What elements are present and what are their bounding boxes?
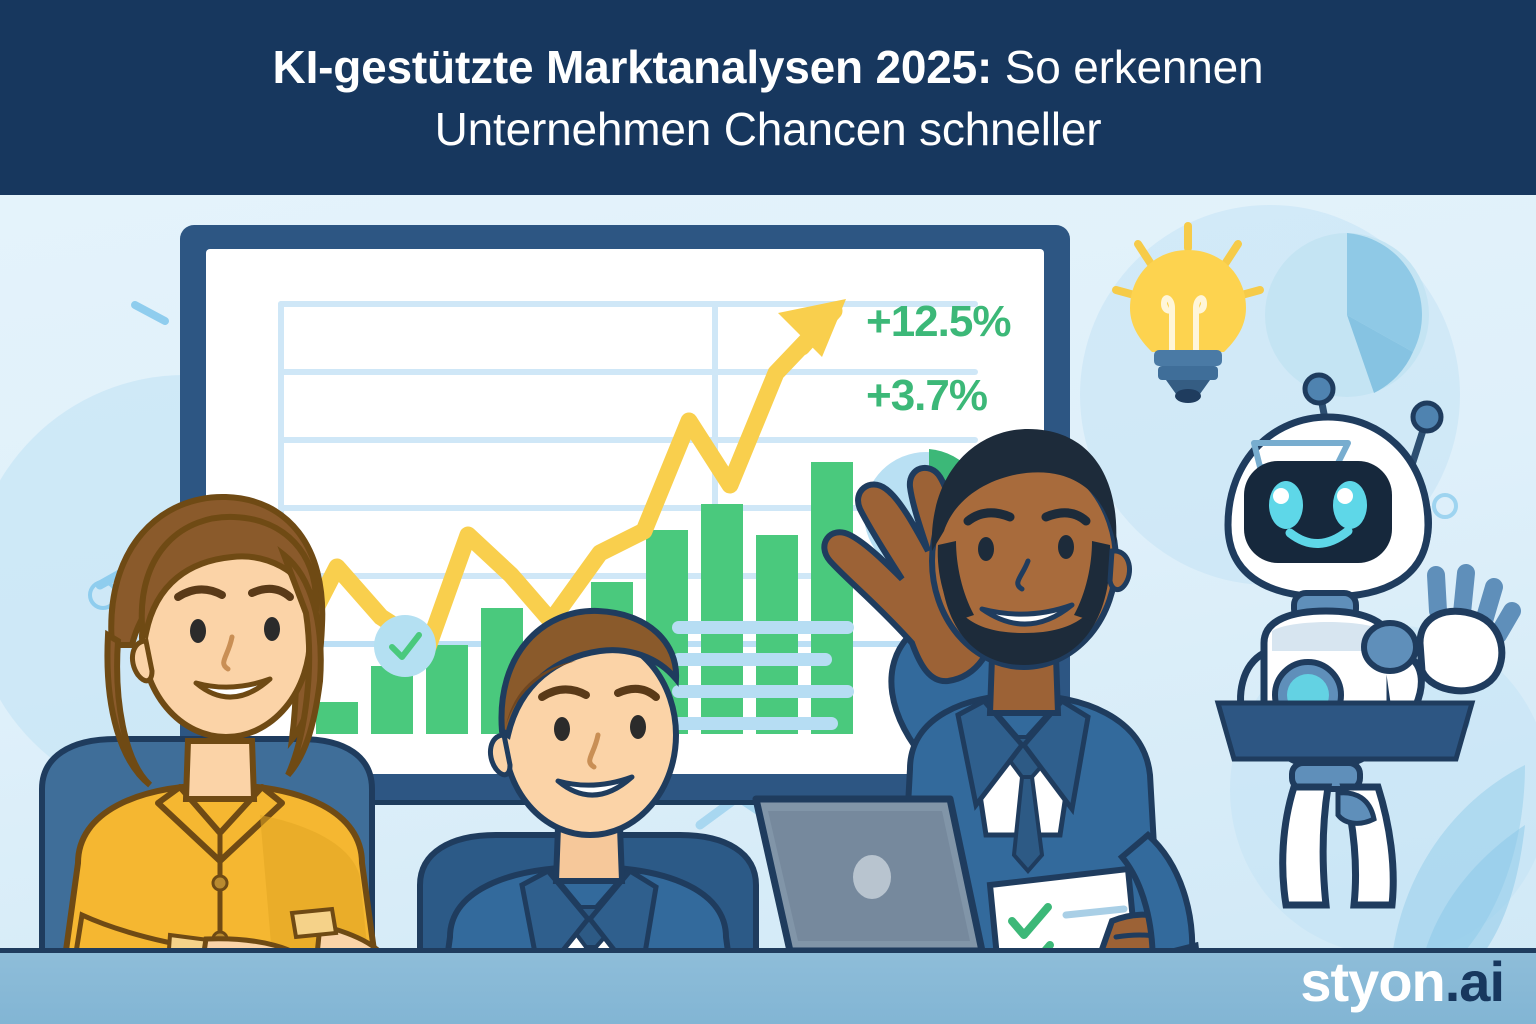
illustration-scene: +12.5% +3.7% — [0, 195, 1536, 1024]
page-title-line-1: KI-gestützte Marktanalysen 2025: So erke… — [273, 36, 1264, 98]
header-banner: KI-gestützte Marktanalysen 2025: So erke… — [0, 0, 1536, 195]
logo-plate — [1210, 703, 1480, 763]
page-title-rest: So erkennen — [992, 41, 1263, 93]
brand-name: styon — [1300, 950, 1444, 1013]
page-title-bold: KI-gestützte Marktanalysen 2025: — [273, 41, 993, 93]
metric-primary: +12.5% — [866, 297, 1010, 347]
poster-canvas: KI-gestützte Marktanalysen 2025: So erke… — [0, 0, 1536, 1024]
brand-logo: styon.ai — [1300, 949, 1504, 1014]
woman-attendee-person — [20, 485, 420, 965]
page-title-line-2: Unternehmen Chancen schneller — [435, 98, 1102, 160]
brand-suffix: .ai — [1445, 950, 1504, 1013]
